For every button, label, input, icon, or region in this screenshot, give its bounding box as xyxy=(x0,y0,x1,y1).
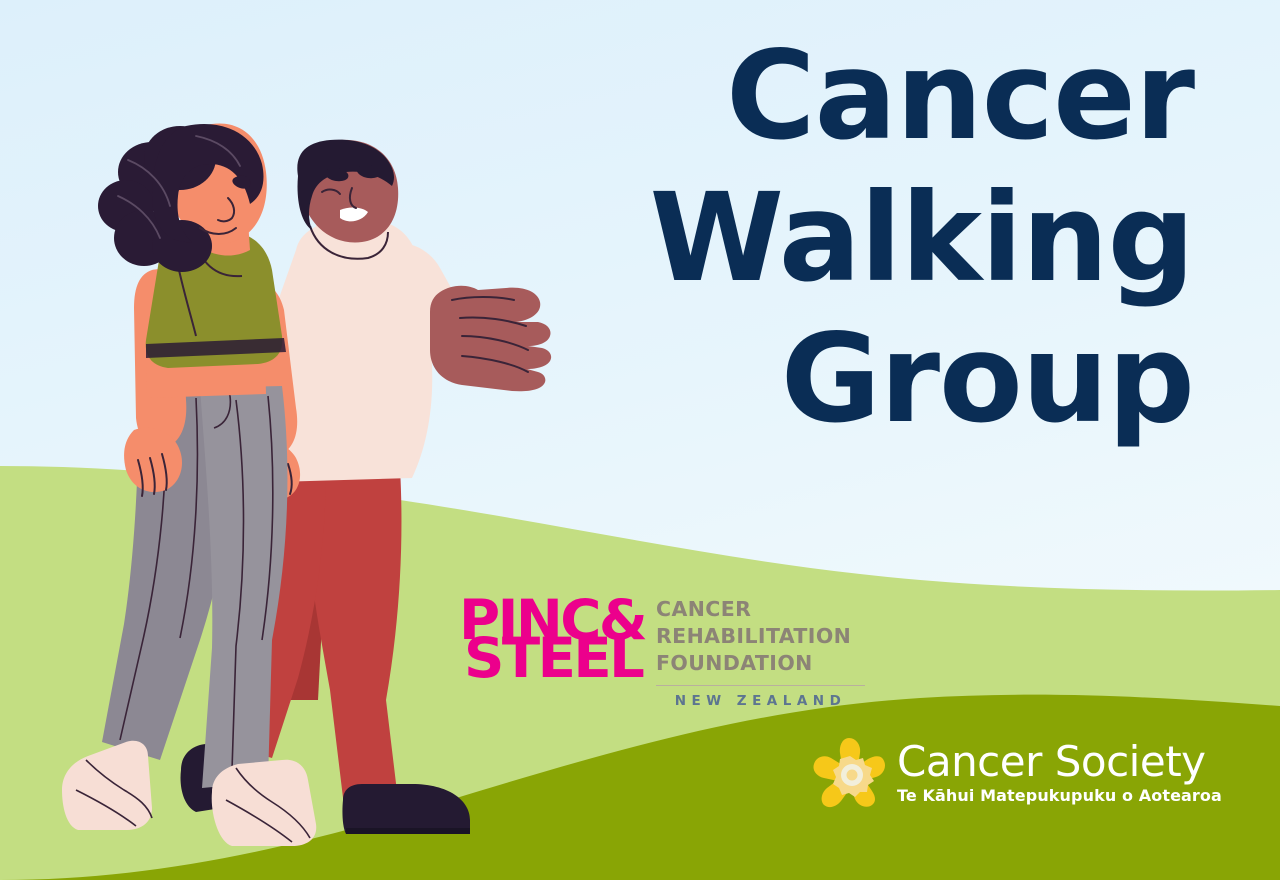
man-shoe xyxy=(342,784,470,834)
cancer-society-text-block: Cancer Society Te Kāhui Matepukupuku o A… xyxy=(897,741,1222,806)
pinc-steel-sub-line-1: CANCER xyxy=(656,596,865,623)
cancer-society-name: Cancer Society xyxy=(897,741,1222,783)
pinc-steel-sub-line-2: REHABILITATION xyxy=(656,623,865,650)
woman-shoe-front xyxy=(212,760,317,846)
daffodil-icon xyxy=(812,736,888,810)
title-line-1: Cancer xyxy=(634,26,1194,168)
cancer-society-logo: Cancer Society Te Kāhui Matepukupuku o A… xyxy=(812,736,1222,810)
cancer-society-tagline: Te Kāhui Matepukupuku o Aotearoa xyxy=(897,788,1222,804)
title-line-3: Group xyxy=(634,309,1194,451)
pinc-and-steel-logo: PINC& STEEL CANCER REHABILITATION FOUNDA… xyxy=(459,588,865,710)
pinc-steel-wordmark: PINC& STEEL xyxy=(459,588,645,686)
pinc-steel-country-rule: NEW ZEALAND xyxy=(656,685,865,710)
page-title: Cancer Walking Group xyxy=(634,26,1194,451)
woman-shoe-back xyxy=(62,741,152,830)
poster-canvas: Cancer Walking Group PINC& STEEL CANCER … xyxy=(0,0,1280,880)
pinc-steel-sub-line-3: FOUNDATION xyxy=(656,650,865,677)
pinc-steel-word-line-2: STEEL xyxy=(464,626,642,690)
pinc-steel-country-label: NEW ZEALAND xyxy=(675,693,847,709)
pinc-steel-subtitle-block: CANCER REHABILITATION FOUNDATION NEW ZEA… xyxy=(656,588,865,710)
title-line-2: Walking xyxy=(634,168,1194,310)
